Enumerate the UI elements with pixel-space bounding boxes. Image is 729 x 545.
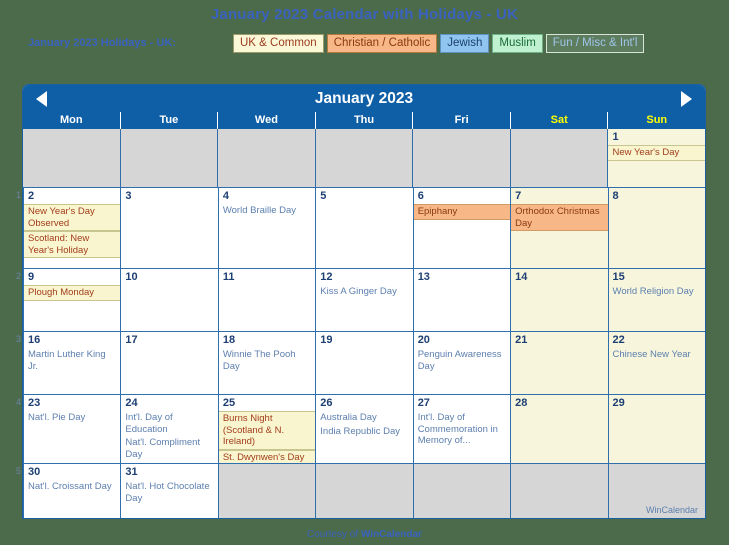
day-number: 23 [24,395,120,411]
weekday-header-sun: Sun [607,112,705,129]
day-cell-17[interactable]: 17 [120,332,217,394]
day-number: 27 [414,395,510,411]
day-number: 13 [414,269,510,285]
day-cell-7[interactable]: 7Orthodox Christmas Day [510,188,607,268]
day-cell-15[interactable]: 15World Religion Day [608,269,705,331]
day-events: Int'l. Day of EducationNat'l. Compliment… [121,411,217,461]
day-cell-empty [510,129,608,187]
day-number: 30 [24,464,120,480]
event-item[interactable]: Plough Monday [24,285,120,301]
week-row: 1New Year's Day [23,129,705,187]
day-cell-22[interactable]: 22Chinese New Year [608,332,705,394]
day-cell-empty [23,129,120,187]
calendar-grid: 1New Year's Day12New Year's Day Observed… [23,129,705,518]
weekday-header-row: MonTueWedThuFriSatSun [23,112,705,129]
event-item[interactable]: St. Dwynwen's Day [219,450,315,464]
day-number: 20 [414,332,510,348]
day-cell-10[interactable]: 10 [120,269,217,331]
weekday-header-fri: Fri [412,112,510,129]
day-events: Nat'l. Pie Day [24,411,120,425]
day-number: 28 [511,395,607,411]
event-item[interactable]: Nat'l. Pie Day [24,411,120,425]
triangle-right-icon[interactable] [681,91,692,107]
day-cell-9[interactable]: 9Plough Monday [23,269,120,331]
wincalendar-watermark: WinCalendar [646,505,698,515]
legend-chip-fun[interactable]: Fun / Misc & Int'l [546,34,645,53]
day-cell-3[interactable]: 3 [120,188,217,268]
event-item[interactable]: Winnie The Pooh Day [219,348,315,373]
courtesy-footer: Courtesy of WinCalendar [0,529,729,540]
day-number: 9 [24,269,120,285]
day-cell-empty [413,464,510,518]
day-number: 31 [121,464,217,480]
day-cell-5[interactable]: 5 [315,188,412,268]
day-cell-11[interactable]: 11 [218,269,315,331]
week-row: 423Nat'l. Pie Day24Int'l. Day of Educati… [23,394,705,463]
day-number: 17 [121,332,217,348]
day-number: 16 [24,332,120,348]
event-item[interactable]: India Republic Day [316,425,412,439]
legend-chip-jewish[interactable]: Jewish [440,34,489,53]
day-number: 26 [316,395,412,411]
event-item[interactable]: Kiss A Ginger Day [316,285,412,299]
day-cell-2[interactable]: 2New Year's Day ObservedScotland: New Ye… [23,188,120,268]
legend-chip-christ[interactable]: Christian / Catholic [327,34,438,53]
day-number: 10 [121,269,217,285]
day-number: 4 [219,188,315,204]
day-events: Chinese New Year [609,348,705,362]
legend-subtitle: January 2023 Holidays - UK: [28,37,233,49]
day-cell-empty [315,129,413,187]
weekday-header-mon: Mon [23,112,120,129]
day-cell-30[interactable]: 30Nat'l. Croissant Day [23,464,120,518]
week-number: 1 [9,190,21,200]
day-number: 19 [316,332,412,348]
legend-chip-uk[interactable]: UK & Common [233,34,324,53]
day-events: World Religion Day [609,285,705,299]
event-item[interactable]: Int'l. Day of Commemoration in Memory of… [414,411,510,448]
day-events: World Braille Day [219,204,315,218]
event-item[interactable]: Martin Luther King Jr. [24,348,120,373]
event-item[interactable]: Australia Day [316,411,412,425]
day-number: 25 [219,395,315,411]
day-cell-26[interactable]: 26Australia DayIndia Republic Day [315,395,412,463]
weekday-header-sat: Sat [510,112,608,129]
week-row: 316Martin Luther King Jr.1718Winnie The … [23,331,705,394]
day-number: 7 [511,188,607,204]
day-number: 15 [609,269,705,285]
weekday-header-thu: Thu [315,112,413,129]
day-number: 1 [608,129,705,145]
week-row: 530Nat'l. Croissant Day31Nat'l. Hot Choc… [23,463,705,518]
day-number: 12 [316,269,412,285]
legend-bar: January 2023 Holidays - UK: UK & CommonC… [0,31,729,55]
week-row: 12New Year's Day ObservedScotland: New Y… [23,187,705,268]
event-item[interactable]: Nat'l. Hot Chocolate Day [121,480,217,505]
day-cell-empty [120,129,218,187]
day-number: 14 [511,269,607,285]
day-events: Burns Night (Scotland & N. Ireland)St. D… [219,411,315,463]
courtesy-prefix: Courtesy of [307,529,361,540]
day-cell-29[interactable]: 29 [608,395,705,463]
month-label: January 2023 [315,90,413,108]
day-cell-1[interactable]: 1New Year's Day [607,129,705,187]
event-item[interactable]: World Religion Day [609,285,705,299]
courtesy-brand[interactable]: WinCalendar [361,529,422,540]
event-item[interactable]: Nat'l. Compliment Day [121,436,217,461]
event-item[interactable]: Chinese New Year [609,348,705,362]
day-cell-25[interactable]: 25Burns Night (Scotland & N. Ireland)St.… [218,395,315,463]
week-number: 4 [9,397,21,407]
day-cell-empty [315,464,412,518]
legend-list: UK & CommonChristian / CatholicJewishMus… [233,34,647,53]
day-events: Nat'l. Croissant Day [24,480,120,494]
day-cell-28[interactable]: 28 [510,395,607,463]
event-item[interactable]: Burns Night (Scotland & N. Ireland) [219,411,315,450]
day-number: 21 [511,332,607,348]
day-cell-8[interactable]: 8 [608,188,705,268]
day-cell-19[interactable]: 19 [315,332,412,394]
event-item[interactable]: Penguin Awareness Day [414,348,510,373]
day-events: Australia DayIndia Republic Day [316,411,412,438]
day-events: New Year's Day [608,145,705,161]
day-cell-6[interactable]: 6Epiphany [413,188,510,268]
event-item[interactable]: World Braille Day [219,204,315,218]
day-cell-18[interactable]: 18Winnie The Pooh Day [218,332,315,394]
weekday-header-wed: Wed [217,112,315,129]
day-number: 8 [609,188,705,204]
week-number: 5 [9,466,21,476]
day-cell-14[interactable]: 14 [510,269,607,331]
day-cell-empty [510,464,607,518]
day-cell-16[interactable]: 16Martin Luther King Jr. [23,332,120,394]
month-navigation-bar: January 2023 [23,85,705,112]
day-cell-31[interactable]: 31Nat'l. Hot Chocolate Day [120,464,217,518]
legend-chip-muslim[interactable]: Muslim [492,34,542,53]
day-number: 22 [609,332,705,348]
day-number: 18 [219,332,315,348]
day-events: Int'l. Day of Commemoration in Memory of… [414,411,510,448]
day-cell-27[interactable]: 27Int'l. Day of Commemoration in Memory … [413,395,510,463]
event-item[interactable]: Orthodox Christmas Day [511,204,607,231]
event-item[interactable]: Int'l. Day of Education [121,411,217,436]
day-cell-13[interactable]: 13 [413,269,510,331]
day-number: 24 [121,395,217,411]
day-number: 6 [414,188,510,204]
day-events: Plough Monday [24,285,120,301]
day-number: 5 [316,188,412,204]
day-cell-12[interactable]: 12Kiss A Ginger Day [315,269,412,331]
event-item[interactable]: New Year's Day [608,145,705,161]
day-cell-4[interactable]: 4World Braille Day [218,188,315,268]
day-cell-empty [218,464,315,518]
event-item[interactable]: New Year's Day Observed [24,204,120,231]
day-events: Winnie The Pooh Day [219,348,315,373]
day-events: New Year's Day ObservedScotland: New Yea… [24,204,120,258]
week-number: 3 [9,334,21,344]
day-cell-20[interactable]: 20Penguin Awareness Day [413,332,510,394]
event-item[interactable]: Epiphany [414,204,510,220]
day-cell-21[interactable]: 21 [510,332,607,394]
weekday-header-tue: Tue [120,112,218,129]
day-number: 3 [121,188,217,204]
week-number: 2 [9,271,21,281]
day-cell-24[interactable]: 24Int'l. Day of EducationNat'l. Complime… [120,395,217,463]
week-row: 29Plough Monday101112Kiss A Ginger Day13… [23,268,705,331]
day-events: Orthodox Christmas Day [511,204,607,231]
day-cell-empty [412,129,510,187]
day-events: Kiss A Ginger Day [316,285,412,299]
day-events: Epiphany [414,204,510,220]
page-title: January 2023 Calendar with Holidays - UK [0,0,729,25]
day-number: 29 [609,395,705,411]
calendar-frame: January 2023 MonTueWedThuFriSatSun 1New … [22,84,706,519]
day-events: Martin Luther King Jr. [24,348,120,373]
triangle-left-icon[interactable] [36,91,47,107]
day-events: Nat'l. Hot Chocolate Day [121,480,217,505]
day-cell-empty [217,129,315,187]
day-number: 11 [219,269,315,285]
event-item[interactable]: Scotland: New Year's Holiday [24,231,120,258]
day-events: Penguin Awareness Day [414,348,510,373]
event-item[interactable]: Nat'l. Croissant Day [24,480,120,494]
day-cell-23[interactable]: 23Nat'l. Pie Day [23,395,120,463]
day-number: 2 [24,188,120,204]
